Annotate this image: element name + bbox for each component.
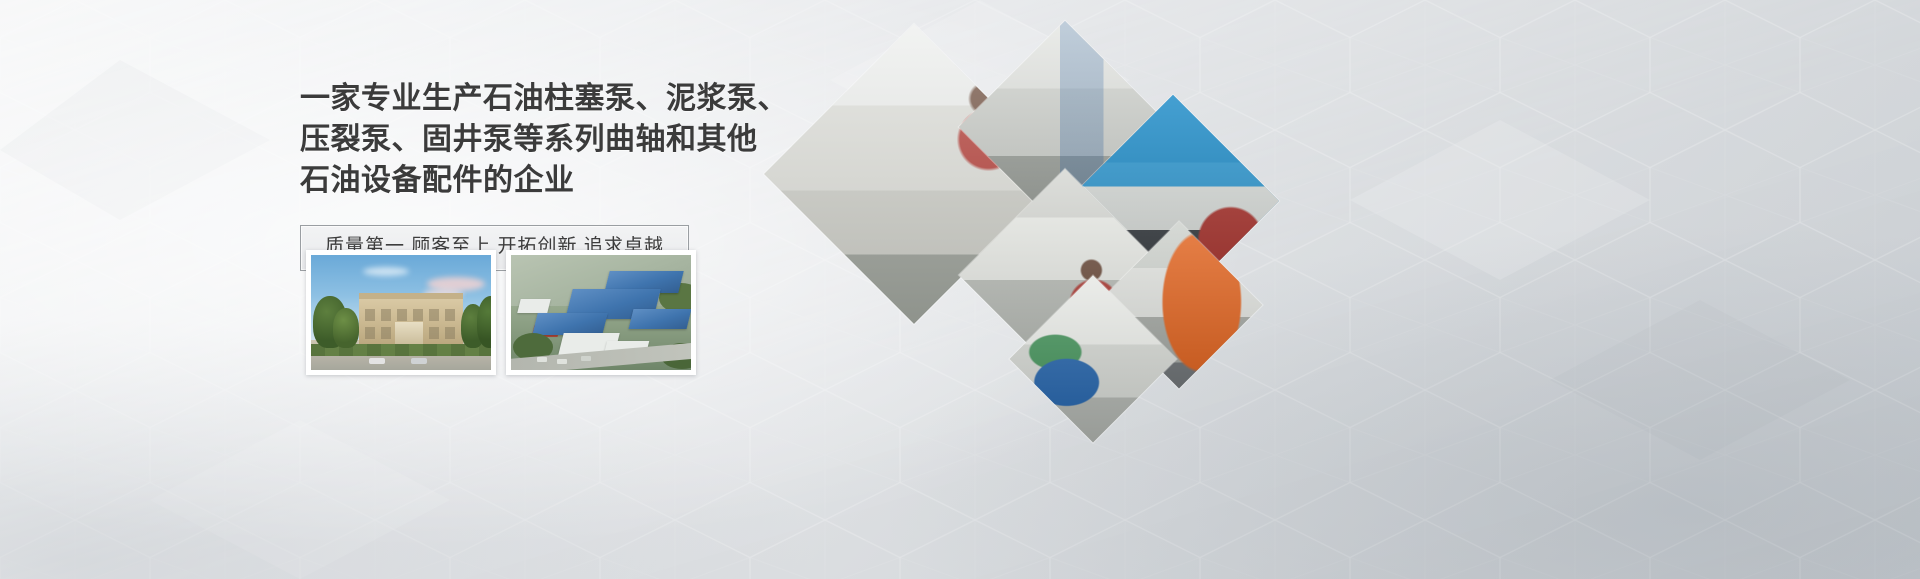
headline-line-1: 一家专业生产石油柱塞泵、泥浆泵、 <box>300 78 730 119</box>
diamond-photo-collage <box>690 30 1310 410</box>
page-title: 一家专业生产石油柱塞泵、泥浆泵、 压裂泵、固井泵等系列曲轴和其他 石油设备配件的… <box>300 78 730 201</box>
headline-block: 一家专业生产石油柱塞泵、泥浆泵、 压裂泵、固井泵等系列曲轴和其他 石油设备配件的… <box>300 78 730 271</box>
factory-aerial-photo[interactable] <box>506 250 696 375</box>
factory-aerial-image <box>511 255 691 370</box>
office-building-photo[interactable] <box>306 250 496 375</box>
hero-banner: 一家专业生产石油柱塞泵、泥浆泵、 压裂泵、固井泵等系列曲轴和其他 石油设备配件的… <box>0 0 1920 579</box>
photo-strip <box>306 250 696 375</box>
office-building-image <box>311 255 491 370</box>
headline-line-2: 压裂泵、固井泵等系列曲轴和其他 <box>300 119 730 160</box>
headline-line-3: 石油设备配件的企业 <box>300 160 730 201</box>
